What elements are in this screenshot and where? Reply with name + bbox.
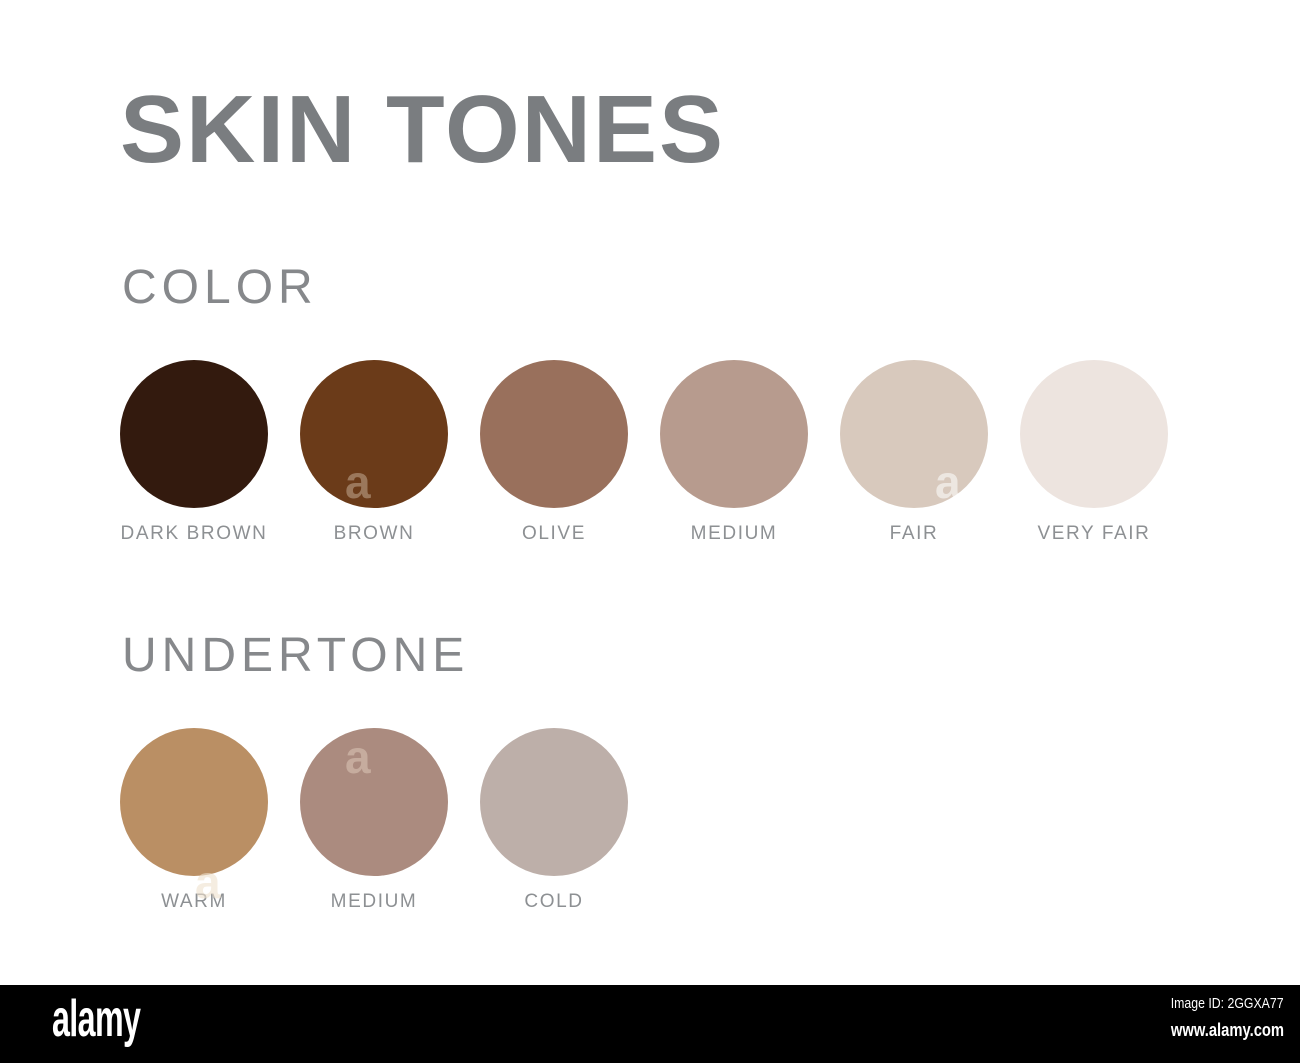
swatch-label-medium: MEDIUM — [691, 524, 778, 543]
swatch-olive[interactable]: OLIVE — [480, 360, 628, 543]
swatch-dot-olive[interactable] — [480, 360, 628, 508]
swatch-label-cold: COLD — [524, 892, 583, 911]
swatch-medium[interactable]: MEDIUM — [660, 360, 808, 543]
swatch-dark-brown[interactable]: DARK BROWN — [120, 360, 268, 543]
swatch-dot-undertone-medium[interactable] — [300, 728, 448, 876]
swatch-label-warm: WARM — [161, 892, 227, 911]
swatch-label-dark-brown: DARK BROWN — [121, 524, 268, 543]
swatch-label-olive: OLIVE — [522, 524, 586, 543]
swatch-dot-fair[interactable] — [840, 360, 988, 508]
section-header-color: COLOR — [122, 264, 318, 312]
alamy-watermark-bar: alamy Image ID: 2GGXA77 www.alamy.com — [0, 985, 1300, 1063]
swatch-label-fair: FAIR — [890, 524, 939, 543]
swatch-dot-medium[interactable] — [660, 360, 808, 508]
swatch-very-fair[interactable]: VERY FAIR — [1020, 360, 1168, 543]
swatch-undertone-medium[interactable]: MEDIUM — [300, 728, 448, 911]
swatch-row-undertone: WARM MEDIUM COLD — [120, 728, 628, 911]
swatch-dot-brown[interactable] — [300, 360, 448, 508]
page-title: SKIN TONES — [120, 82, 725, 178]
swatch-brown[interactable]: BROWN — [300, 360, 448, 543]
image-id-text: Image ID: 2GGXA77 — [1171, 996, 1284, 1011]
swatch-label-very-fair: VERY FAIR — [1038, 524, 1151, 543]
alamy-logo: alamy — [52, 993, 140, 1045]
swatch-label-undertone-medium: MEDIUM — [331, 892, 418, 911]
swatch-label-brown: BROWN — [334, 524, 415, 543]
swatch-warm[interactable]: WARM — [120, 728, 268, 911]
swatch-fair[interactable]: FAIR — [840, 360, 988, 543]
section-header-undertone: UNDERTONE — [122, 632, 469, 680]
swatch-row-color: DARK BROWN BROWN OLIVE MEDIUM FAIR VERY … — [120, 360, 1168, 543]
swatch-dot-cold[interactable] — [480, 728, 628, 876]
swatch-dot-very-fair[interactable] — [1020, 360, 1168, 508]
swatch-dot-warm[interactable] — [120, 728, 268, 876]
artboard: SKIN TONES COLOR DARK BROWN BROWN OLIVE … — [0, 0, 1300, 985]
swatch-dot-dark-brown[interactable] — [120, 360, 268, 508]
alamy-url-text: www.alamy.com — [1171, 1021, 1284, 1039]
swatch-cold[interactable]: COLD — [480, 728, 628, 911]
